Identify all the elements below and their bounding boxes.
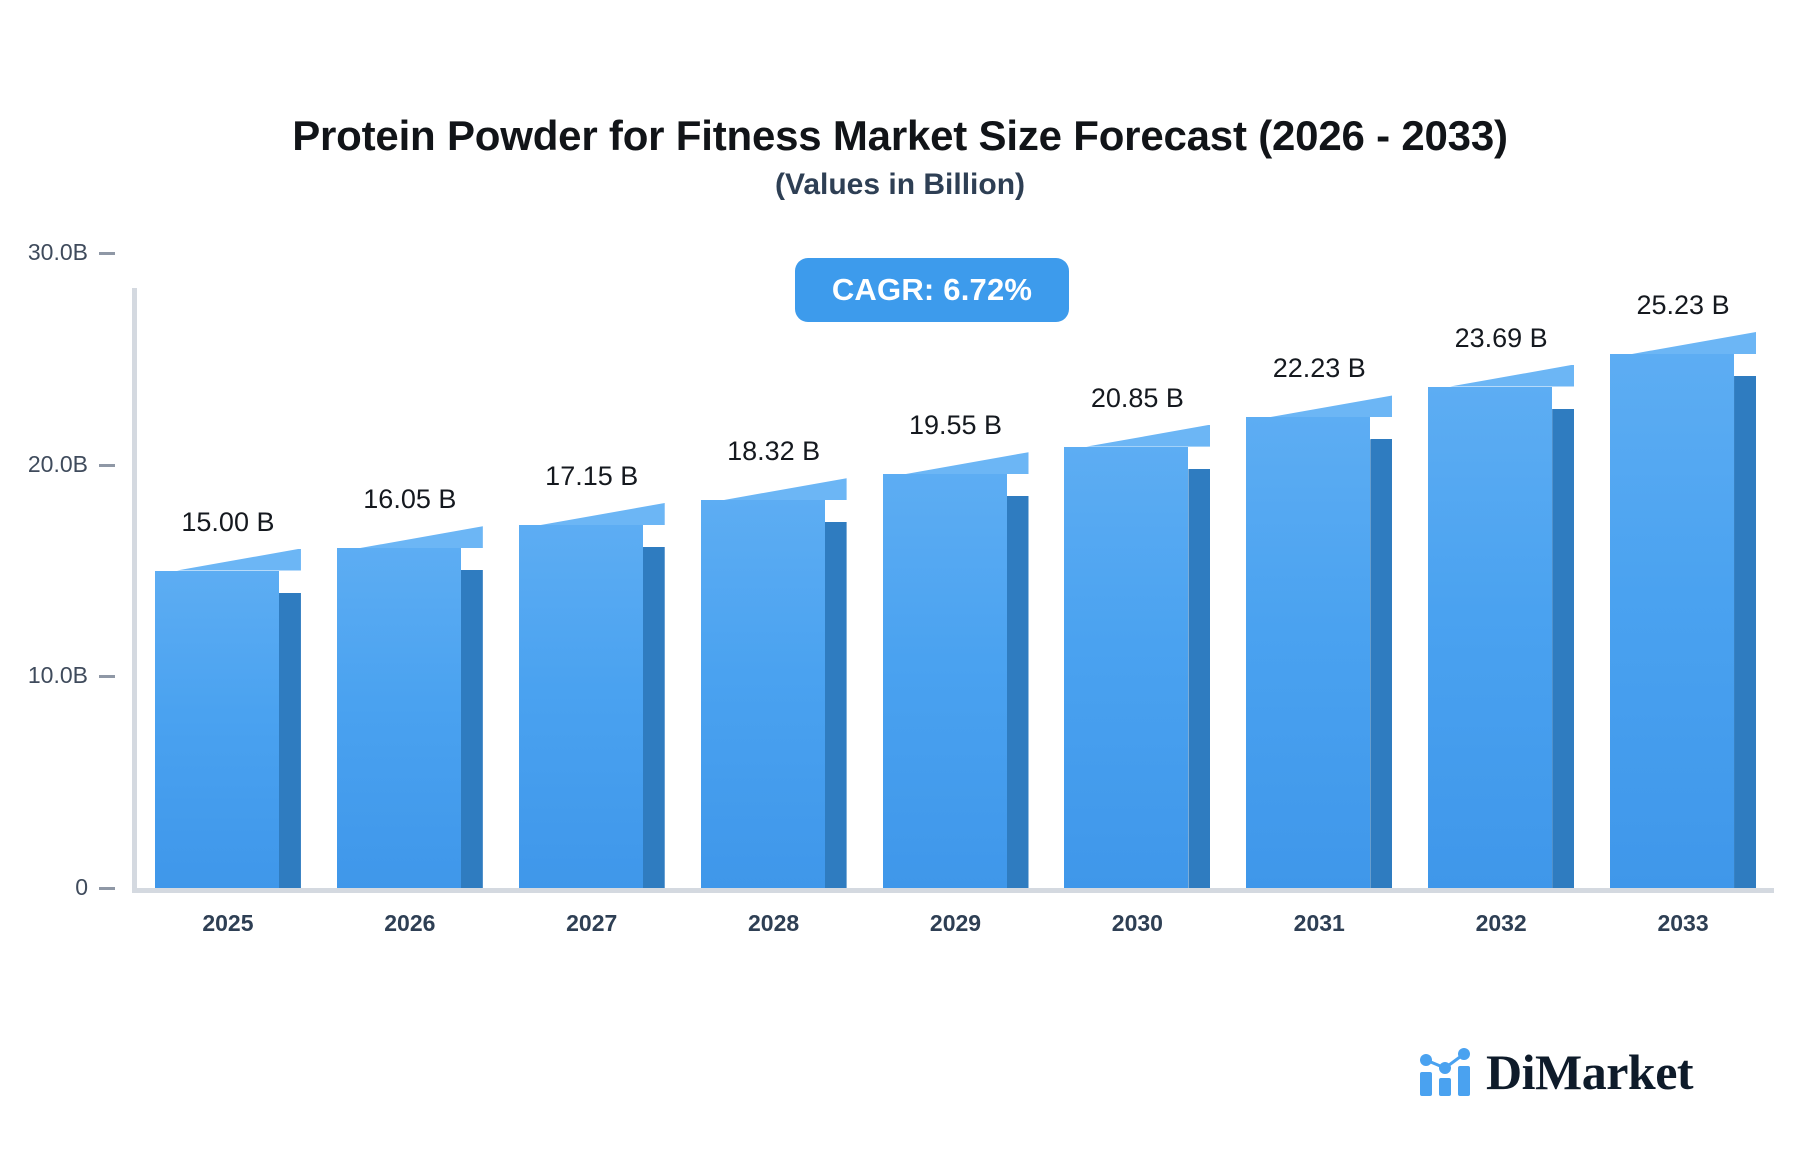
bar (883, 474, 1007, 888)
chart-canvas: Protein Powder for Fitness Market Size F… (0, 0, 1800, 1156)
x-axis-label: 2027 (502, 910, 682, 937)
bar (701, 500, 825, 888)
bar-chart-logo-icon (1418, 1046, 1472, 1098)
x-axis-label: 2028 (684, 910, 864, 937)
bar-top-face (1246, 395, 1392, 417)
bar-top-face (701, 478, 847, 500)
x-axis-label: 2032 (1411, 910, 1591, 937)
bar-value-label: 20.85 B (1027, 383, 1247, 414)
x-axis-label: 2030 (1047, 910, 1227, 937)
bar-top-face (519, 503, 665, 525)
bar-side-face (1552, 409, 1574, 888)
x-axis-label: 2025 (138, 910, 318, 937)
bar-side-face (279, 593, 301, 889)
bar-top-face (337, 526, 483, 548)
bar-side-face (461, 570, 483, 888)
x-axis-label: 2026 (320, 910, 500, 937)
brand-logo: DiMarket (1418, 1046, 1693, 1098)
bar (519, 525, 643, 888)
bar (1246, 417, 1370, 888)
bar (155, 571, 279, 889)
y-axis-line (132, 288, 137, 892)
x-axis-label: 2029 (866, 910, 1046, 937)
y-axis-tick-mark (99, 252, 115, 255)
y-axis-tick-label: 20.0B (0, 451, 88, 478)
x-axis-line (132, 888, 1774, 893)
y-axis-tick-mark (99, 887, 115, 890)
bar-side-face (1007, 496, 1029, 888)
y-axis-tick-mark (99, 675, 115, 678)
bar-side-face (825, 522, 847, 888)
bar (1428, 387, 1552, 888)
bar-side-face (643, 547, 665, 888)
y-axis-tick-label: 10.0B (0, 662, 88, 689)
x-axis-label: 2031 (1229, 910, 1409, 937)
y-axis-tick-mark (99, 464, 115, 467)
bar-top-face (1064, 425, 1210, 447)
y-axis-tick-label: 0 (0, 874, 88, 901)
bar-side-face (1734, 376, 1756, 888)
bar-value-label: 19.55 B (846, 410, 1066, 441)
logo-wordmark: DiMarket (1486, 1047, 1693, 1097)
plot-area: 30.0B20.0B10.0B0 15.00 B16.05 B17.15 B18… (0, 0, 1800, 1156)
bar-side-face (1370, 439, 1392, 888)
bar (1064, 447, 1188, 888)
bar (337, 548, 461, 888)
bar (1610, 354, 1734, 888)
bar-top-face (883, 452, 1029, 474)
bar-side-face (1188, 469, 1210, 888)
bar-value-label: 23.69 B (1391, 323, 1611, 354)
bar-top-face (155, 549, 301, 571)
x-axis-label: 2033 (1593, 910, 1773, 937)
bar-value-label: 22.23 B (1209, 353, 1429, 384)
bar-top-face (1428, 365, 1574, 387)
bar-top-face (1610, 332, 1756, 354)
y-axis-tick-label: 30.0B (0, 239, 88, 266)
bar-value-label: 25.23 B (1573, 290, 1793, 321)
